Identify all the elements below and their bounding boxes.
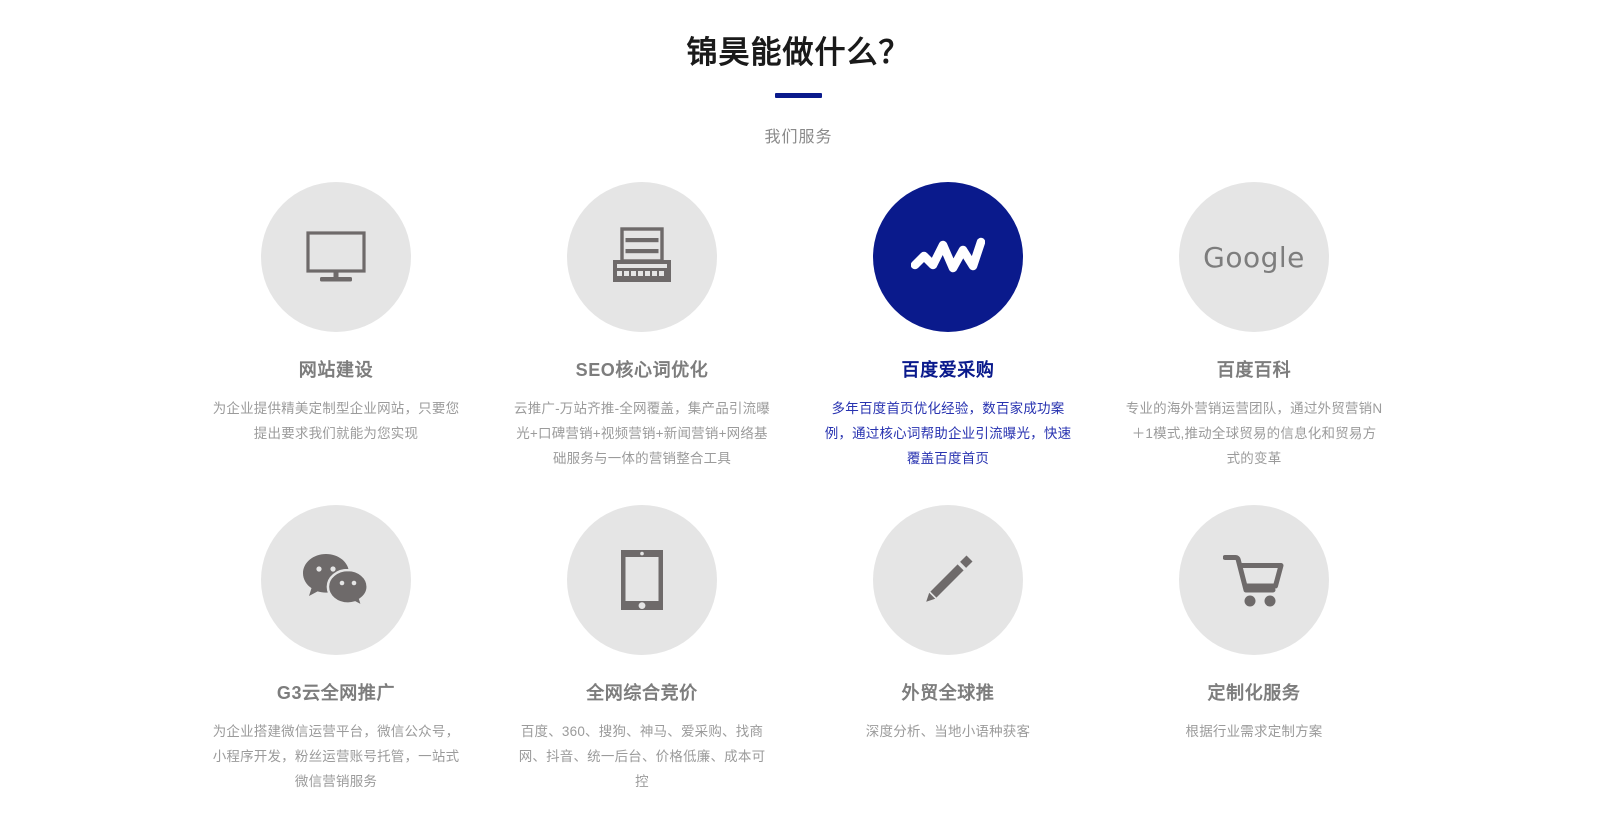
service-card-title: 定制化服务 (1101, 679, 1407, 705)
wave-chart-icon (873, 182, 1023, 332)
wechat-icon (261, 505, 411, 655)
service-card-title: 网站建设 (183, 356, 489, 382)
service-card-description: 根据行业需求定制方案 (1125, 719, 1383, 744)
server-printer-icon (567, 182, 717, 332)
service-card-description: 百度、360、搜狗、神马、爱采购、找商网、抖音、统一后台、价格低廉、成本可控 (513, 719, 771, 794)
service-card-description: 为企业搭建微信运营平台，微信公众号，小程序开发，粉丝运营账号托管，一站式微信营销… (207, 719, 465, 794)
service-card-description: 云推广-万站齐推-全网覆盖，集产品引流曝光+口碑营销+视频营销+新闻营销+网络基… (513, 396, 771, 471)
service-card-description: 专业的海外营销运营团队，通过外贸营销N＋1模式,推动全球贸易的信息化和贸易方式的… (1125, 396, 1383, 471)
service-card[interactable]: 网站建设为企业提供精美定制型企业网站，只要您提出要求我们就能为您实现 (183, 170, 489, 471)
service-card-title: 百度爱采购 (795, 356, 1101, 382)
service-card[interactable]: SEO核心词优化云推广-万站齐推-全网覆盖，集产品引流曝光+口碑营销+视频营销+… (489, 170, 795, 471)
services-grid: 网站建设为企业提供精美定制型企业网站，只要您提出要求我们就能为您实现SEO核心词… (183, 170, 1408, 794)
service-card-title: SEO核心词优化 (489, 356, 795, 382)
service-card-title: 全网综合竞价 (489, 679, 795, 705)
service-card-description: 深度分析、当地小语种获客 (819, 719, 1077, 744)
service-card-title: 外贸全球推 (795, 679, 1101, 705)
service-card[interactable]: G3云全网推广为企业搭建微信运营平台，微信公众号，小程序开发，粉丝运营账号托管，… (183, 493, 489, 794)
service-card-description: 为企业提供精美定制型企业网站，只要您提出要求我们就能为您实现 (207, 396, 465, 446)
service-card[interactable]: 全网综合竞价百度、360、搜狗、神马、爱采购、找商网、抖音、统一后台、价格低廉、… (489, 493, 795, 794)
service-card[interactable]: 外贸全球推深度分析、当地小语种获客 (795, 493, 1101, 794)
service-card[interactable]: 百度爱采购多年百度首页优化经验，数百家成功案例，通过核心词帮助企业引流曝光，快速… (795, 170, 1101, 471)
pencil-icon (873, 505, 1023, 655)
service-card-title: 百度百科 (1101, 356, 1407, 382)
tablet-icon (567, 505, 717, 655)
google-wordmark-icon: Google (1179, 182, 1329, 332)
section-header: 锦昊能做什么？ 我们服务 (0, 0, 1597, 147)
title-underline-rule (775, 93, 822, 98)
section-subtitle: 我们服务 (0, 123, 1597, 147)
services-section: 锦昊能做什么？ 我们服务 网站建设为企业提供精美定制型企业网站，只要您提出要求我… (0, 0, 1597, 814)
service-card-description: 多年百度首页优化经验，数百家成功案例，通过核心词帮助企业引流曝光，快速覆盖百度首… (819, 396, 1077, 471)
shopping-cart-icon (1179, 505, 1329, 655)
service-card[interactable]: 定制化服务根据行业需求定制方案 (1101, 493, 1407, 794)
page-title: 锦昊能做什么？ (0, 34, 1597, 71)
service-card[interactable]: Google百度百科专业的海外营销运营团队，通过外贸营销N＋1模式,推动全球贸易… (1101, 170, 1407, 471)
monitor-icon (261, 182, 411, 332)
service-card-title: G3云全网推广 (183, 679, 489, 705)
